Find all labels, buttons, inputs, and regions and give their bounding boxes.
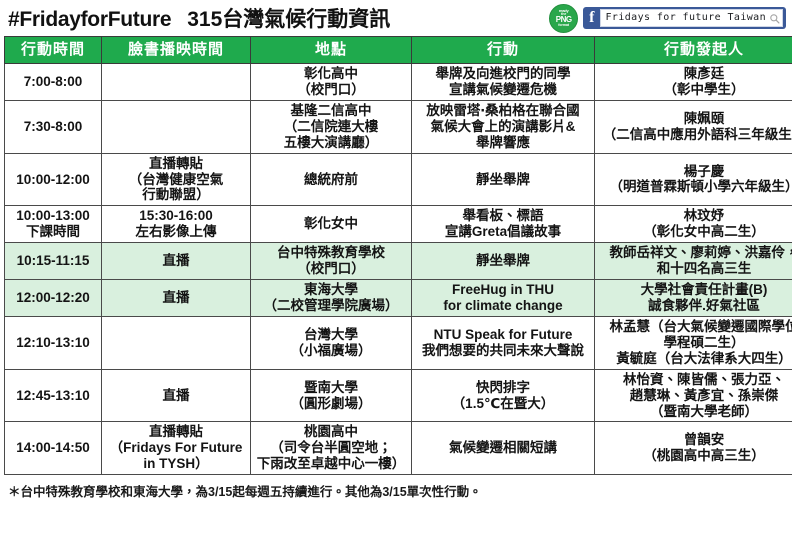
column-header-time: 行動時間 [5,37,102,64]
cell-place-line: （校門口） [254,261,408,277]
cell-action-line: 放映雷塔‧桑柏格在聯合國 [415,103,591,119]
facebook-icon: f [587,10,597,27]
cell-time: 12:00-12:20 [5,280,102,317]
cell-people-line: （二信高中應用外語科三年級生） [598,127,792,143]
cell-time-line: 7:30-8:00 [8,119,98,135]
cell-people-line: （桃園高中高三生） [598,448,792,464]
cell-place-line: 五樓大演講廳） [254,135,408,151]
table-header-row: 行動時間 臉書播映時間 地點 行動 行動發起人 [5,37,792,64]
cell-action: 放映雷塔‧桑柏格在聯合國氣候大會上的演講影片&舉牌響應 [412,100,595,153]
cell-fb-time: 直播轉貼（台灣健康空氣行動聯盟） [102,153,251,206]
table-row: 10:15-11:15直播台中特殊教育學校（校門口）靜坐舉牌教師岳祥文、廖莉婷、… [5,243,792,280]
cell-people-line: 誠食夥伴.好氣社區 [598,298,792,314]
cell-fb-time-line: 直播轉貼 [105,424,247,440]
cell-fb-time-line: （Fridays For Future [105,440,247,456]
page-header: #FridayforFuture 315台灣氣候行動資訊 ready the P… [4,0,788,36]
cell-people-line: 教師岳祥文、廖莉婷、洪嘉伶， [598,245,792,261]
cell-action: FreeHug in THUfor climate change [412,280,595,317]
cell-fb-time-line: 直播 [105,388,247,404]
cell-action: NTU Speak for Future我們想要的共同未來大聲說 [412,316,595,369]
column-header-fb-time: 臉書播映時間 [102,37,251,64]
table-head: 行動時間 臉書播映時間 地點 行動 行動發起人 [5,37,792,64]
cell-fb-time-line: 15:30-16:00 [105,208,247,224]
cell-place-line: （二校管理學院廣場） [254,298,408,314]
cell-people-line: 大學社會責任計畫(B) [598,282,792,298]
cell-time-line: 10:00-12:00 [8,172,98,188]
table-body: 7:00-8:00彰化高中（校門口）舉牌及向進校門的同學宣講氣候變遷危機陳彥廷（… [5,64,792,475]
cell-action-line: for climate change [415,298,591,314]
brand-group: ready the PNG format f Fridays for futur… [549,4,788,33]
cell-people-line: （明道普霖斯頓小學六年級生） [598,179,792,195]
cell-action: 靜坐舉牌 [412,153,595,206]
cell-people: 楊子慶（明道普霖斯頓小學六年級生） [595,153,792,206]
cell-time-line: 12:10-13:10 [8,335,98,351]
cell-people-line: 學程碩二生） [598,335,792,351]
cell-action-line: NTU Speak for Future [415,327,591,343]
cell-action-line: 靜坐舉牌 [415,172,591,188]
cell-action-line: 舉看板、標語 [415,208,591,224]
table-row: 12:45-13:10直播暨南大學（圓形劇場）快閃排字（1.5℃在暨大）林怡資、… [5,369,792,422]
cell-fb-time: 直播 [102,280,251,317]
cell-time-line: 下課時間 [8,224,98,240]
cell-action-line: 氣候大會上的演講影片& [415,119,591,135]
table-row: 10:00-13:00下課時間15:30-16:00左右影像上傳彰化女中舉看板、… [5,206,792,243]
cell-fb-time [102,64,251,101]
cell-people: 大學社會責任計畫(B)誠食夥伴.好氣社區 [595,280,792,317]
cell-time: 7:30-8:00 [5,100,102,153]
cell-action: 快閃排字（1.5℃在暨大） [412,369,595,422]
cell-action: 舉看板、標語宣講Greta倡議故事 [412,206,595,243]
cell-action: 靜坐舉牌 [412,243,595,280]
cell-people-line: 陳姵頤 [598,111,792,127]
climate-action-schedule-table: 行動時間 臉書播映時間 地點 行動 行動發起人 7:00-8:00彰化高中（校門… [4,36,792,475]
column-header-people: 行動發起人 [595,37,792,64]
cell-time: 10:00-12:00 [5,153,102,206]
cell-place-line: 彰化高中 [254,66,408,82]
cell-place-line: 台中特殊教育學校 [254,245,408,261]
cell-time: 10:15-11:15 [5,243,102,280]
facebook-page-badge[interactable]: f Fridays for future Taiwan [583,7,786,29]
cell-people-line: 林玟妤 [598,208,792,224]
cell-place-line: 彰化女中 [254,216,408,232]
cell-action-line: 氣候變遷相關短講 [415,440,591,456]
cell-action-line: 靜坐舉牌 [415,253,591,269]
cell-people: 林孟慧（台大氣候變遷國際學位學程碩二生）黃毓庭（台大法律系大四生） [595,316,792,369]
cell-fb-time-line: 左右影像上傳 [105,224,247,240]
cell-fb-time-line: in TYSH） [105,456,247,472]
cell-place-line: 暨南大學 [254,380,408,396]
cell-action: 舉牌及向進校門的同學宣講氣候變遷危機 [412,64,595,101]
cell-people-line: 林怡資、陳皆儒、張力亞、 [598,372,792,388]
cell-time-line: 7:00-8:00 [8,74,98,90]
cell-place-line: （小福廣場） [254,343,408,359]
table-row: 12:10-13:10台灣大學（小福廣場）NTU Speak for Futur… [5,316,792,369]
cell-fb-time: 直播轉貼（Fridays For Futurein TYSH） [102,422,251,475]
page-title: 315台灣氣候行動資訊 [187,3,390,33]
cell-people: 曾韻安（桃園高中高三生） [595,422,792,475]
poster-page: #FridayforFuture 315台灣氣候行動資訊 ready the P… [0,0,792,535]
cell-place: 台中特殊教育學校（校門口） [251,243,412,280]
cell-people: 陳姵頤（二信高中應用外語科三年級生） [595,100,792,153]
cell-action-line: FreeHug in THU [415,282,591,298]
cell-time: 14:00-14:50 [5,422,102,475]
cell-place: 基隆二信高中（二信院連大樓五樓大演講廳） [251,100,412,153]
cell-place: 桃園高中（司令台半圓空地；下雨改至卓越中心一樓） [251,422,412,475]
cell-people-line: 黃毓庭（台大法律系大四生） [598,351,792,367]
cell-action-line: 我們想要的共同未來大聲說 [415,343,591,359]
cell-people-line: 曾韻安 [598,432,792,448]
cell-people-line: 陳彥廷 [598,66,792,82]
column-header-action: 行動 [412,37,595,64]
cell-time-line: 12:00-12:20 [8,290,98,306]
cell-action-line: 宣講氣候變遷危機 [415,82,591,98]
cell-time-line: 14:00-14:50 [8,440,98,456]
cell-action-line: 舉牌響應 [415,135,591,151]
table-row: 7:30-8:00基隆二信高中（二信院連大樓五樓大演講廳）放映雷塔‧桑柏格在聯合… [5,100,792,153]
table-row: 7:00-8:00彰化高中（校門口）舉牌及向進校門的同學宣講氣候變遷危機陳彥廷（… [5,64,792,101]
cell-place: 台灣大學（小福廣場） [251,316,412,369]
cell-people-line: 林孟慧（台大氣候變遷國際學位 [598,319,792,335]
cell-place: 彰化女中 [251,206,412,243]
cell-people-line: （彰化女中高二生） [598,224,792,240]
cell-fb-time-line: （台灣健康空氣 [105,172,247,188]
cell-fb-time-line: 行動聯盟） [105,187,247,203]
cell-place: 總統府前 [251,153,412,206]
cell-action-line: （1.5℃在暨大） [415,396,591,412]
cell-place-line: （圓形劇場） [254,396,408,412]
cell-people: 林玟妤（彰化女中高二生） [595,206,792,243]
cell-time: 12:10-13:10 [5,316,102,369]
search-icon[interactable] [769,13,780,24]
facebook-page-name: Fridays for future Taiwan [605,13,766,23]
cell-place-line: 台灣大學 [254,327,408,343]
column-header-place: 地點 [251,37,412,64]
hashtag-label: #FridayforFuture [8,8,171,32]
cell-fb-time: 15:30-16:00左右影像上傳 [102,206,251,243]
cell-people: 陳彥廷（彰中學生） [595,64,792,101]
cell-action-line: 舉牌及向進校門的同學 [415,66,591,82]
facebook-search-field[interactable]: Fridays for future Taiwan [600,9,783,27]
green-circle-logo-icon: ready the PNG format [549,4,578,33]
cell-time: 10:00-13:00下課時間 [5,206,102,243]
cell-fb-time: 直播 [102,243,251,280]
cell-place-line: （二信院連大樓 [254,119,408,135]
cell-place-line: 下雨改至卓越中心一樓） [254,456,408,472]
cell-people-line: 趙慧琳、黃彥宜、孫崇傑 [598,388,792,404]
cell-people-line: 楊子慶 [598,164,792,180]
cell-action-line: 快閃排字 [415,380,591,396]
cell-place-line: 基隆二信高中 [254,103,408,119]
cell-place: 暨南大學（圓形劇場） [251,369,412,422]
cell-time-line: 12:45-13:10 [8,388,98,404]
cell-action-line: 宣講Greta倡議故事 [415,224,591,240]
cell-place-line: 桃園高中 [254,424,408,440]
cell-place-line: （司令台半圓空地； [254,440,408,456]
cell-fb-time-line: 直播 [105,290,247,306]
cell-time-line: 10:15-11:15 [8,253,98,269]
cell-place: 彰化高中（校門口） [251,64,412,101]
cell-fb-time: 直播 [102,369,251,422]
title-group: #FridayforFuture 315台灣氣候行動資訊 [8,3,549,33]
cell-people-line: （暨南大學老師） [598,404,792,420]
table-row: 12:00-12:20直播東海大學（二校管理學院廣場）FreeHug in TH… [5,280,792,317]
cell-fb-time [102,316,251,369]
cell-time: 7:00-8:00 [5,64,102,101]
table-row: 10:00-12:00直播轉貼（台灣健康空氣行動聯盟）總統府前靜坐舉牌楊子慶（明… [5,153,792,206]
cell-time: 12:45-13:10 [5,369,102,422]
cell-fb-time [102,100,251,153]
cell-action: 氣候變遷相關短講 [412,422,595,475]
cell-place-line: 總統府前 [254,172,408,188]
table-row: 14:00-14:50直播轉貼（Fridays For Futurein TYS… [5,422,792,475]
cell-time-line: 10:00-13:00 [8,208,98,224]
footnote: ＊台中特殊教育學校和東海大學，為3/15起每週五持續進行。其他為3/15單次性行… [4,481,788,500]
cell-place: 東海大學（二校管理學院廣場） [251,280,412,317]
cell-fb-time-line: 直播轉貼 [105,156,247,172]
cell-people: 教師岳祥文、廖莉婷、洪嘉伶，和十四名高三生 [595,243,792,280]
cell-place-line: （校門口） [254,82,408,98]
cell-people-line: （彰中學生） [598,82,792,98]
cell-people-line: 和十四名高三生 [598,261,792,277]
cell-place-line: 東海大學 [254,282,408,298]
logo-line-4: format [558,24,569,28]
cell-people: 林怡資、陳皆儒、張力亞、趙慧琳、黃彥宜、孫崇傑（暨南大學老師） [595,369,792,422]
cell-fb-time-line: 直播 [105,253,247,269]
